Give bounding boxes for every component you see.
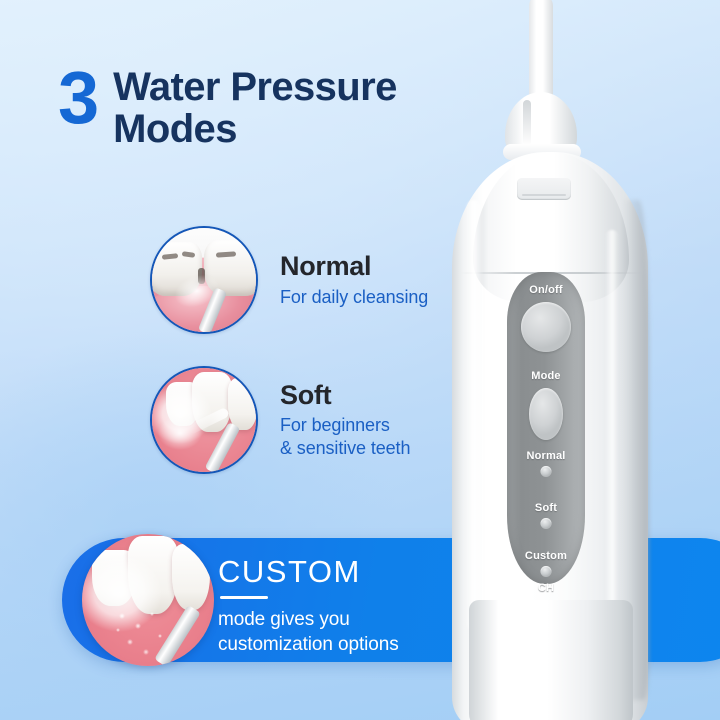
custom-title: CUSTOM [218,556,468,587]
indicator-label-normal: Normal [507,450,585,462]
mode-subtitle-line-1: For beginners [280,414,410,437]
custom-banner-text: CUSTOM mode gives you customization opti… [218,556,468,658]
water-flosser-device: On/off Mode Normal Soft Custom CH [455,0,655,720]
custom-subtitle: mode gives you customization options [218,607,468,658]
soft-mode-text: Soft For beginners & sensitive teeth [280,381,410,460]
front-tooth-right [172,544,210,610]
indicator-label-custom: Custom [507,550,585,562]
teeth-custom-water-spray-icon [82,534,214,666]
product-infographic: 3 Water Pressure Modes Normal For daily … [0,0,720,720]
front-tooth-right [228,378,258,430]
control-panel: On/off Mode Normal Soft Custom CH [507,272,585,584]
normal-mode-icon [150,226,258,334]
normal-mode-text: Normal For daily cleansing [280,252,428,308]
device-base [469,600,633,720]
mode-row-soft: Soft For beginners & sensitive teeth [150,366,410,474]
teeth-foam-soft-spray-icon [152,368,256,472]
power-button[interactable] [521,302,571,352]
mode-label: Mode [507,370,585,382]
title-line-2: Modes [113,108,397,150]
title-lines: Water Pressure Modes [113,62,397,151]
mode-count-number: 3 [58,62,97,133]
mode-title: Normal [280,252,428,282]
mode-row-normal: Normal For daily cleansing [150,226,428,334]
teeth-molar-water-jet-icon [152,228,256,332]
led-indicator-custom [541,566,552,577]
mode-subtitle: For daily cleansing [280,286,428,309]
divider [220,596,268,599]
led-indicator-soft [541,518,552,529]
nozzle-tip [529,0,553,106]
power-label: On/off [507,284,585,296]
mode-title: Soft [280,381,410,411]
mode-subtitle: For beginners & sensitive teeth [280,414,410,459]
charge-label: CH [507,582,585,594]
body-highlight-left [465,200,483,630]
led-indicator-normal [541,466,552,477]
mode-subtitle-line-2: & sensitive teeth [280,437,410,460]
custom-subtitle-line-2: customization options [218,632,468,657]
mode-button[interactable] [529,388,563,440]
title-line-1: Water Pressure [113,66,397,108]
body-highlight-right [605,230,619,630]
soft-mode-icon [150,366,258,474]
custom-subtitle-line-1: mode gives you [218,607,468,632]
custom-mode-icon [82,534,214,666]
indicator-label-soft: Soft [507,502,585,514]
nozzle-release-button[interactable] [517,178,571,200]
page-title: 3 Water Pressure Modes [58,62,397,151]
